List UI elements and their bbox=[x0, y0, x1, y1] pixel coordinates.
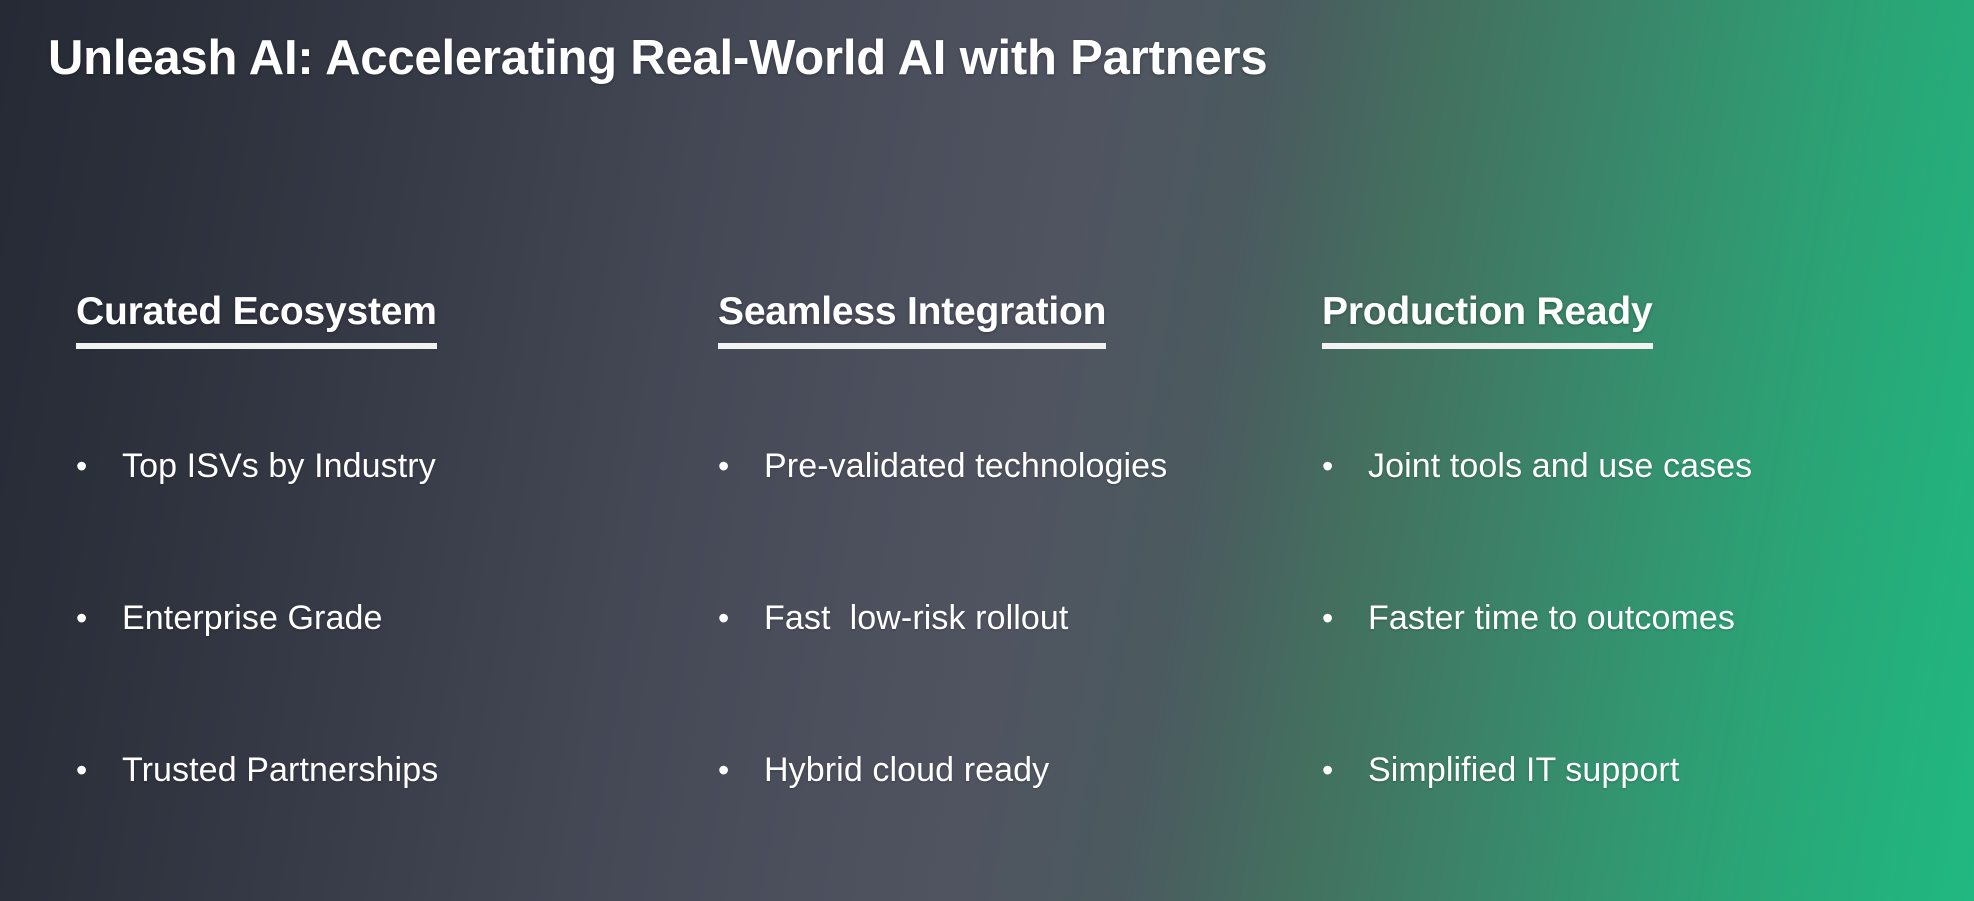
column-heading-1: Curated Ecosystem bbox=[76, 290, 437, 349]
presentation-slide: Unleash AI: Accelerating Real-World AI w… bbox=[0, 0, 1974, 901]
bullet-point-icon: • bbox=[76, 754, 122, 786]
bullet-list-2: • Pre-validated technologies • Fast low-… bbox=[718, 447, 1300, 901]
list-item: • Hybrid cloud ready bbox=[718, 751, 1300, 901]
bullet-label: Enterprise Grade bbox=[122, 599, 383, 638]
slide-title: Unleash AI: Accelerating Real-World AI w… bbox=[48, 30, 1267, 86]
column-heading-3: Production Ready bbox=[1322, 290, 1653, 349]
bullet-point-icon: • bbox=[718, 602, 764, 634]
bullet-label: Faster time to outcomes bbox=[1368, 599, 1735, 638]
bullet-label: Hybrid cloud ready bbox=[764, 751, 1049, 790]
bullet-point-icon: • bbox=[718, 450, 764, 482]
bullet-label: Pre-validated technologies bbox=[764, 447, 1167, 486]
bullet-point-icon: • bbox=[1322, 602, 1368, 634]
column-curated-ecosystem: Curated Ecosystem • Top ISVs by Industry… bbox=[0, 290, 650, 901]
bullet-label: Fast low-risk rollout bbox=[764, 599, 1068, 638]
bullet-point-icon: • bbox=[76, 602, 122, 634]
bullet-point-icon: • bbox=[718, 754, 764, 786]
list-item: • Fast low-risk rollout bbox=[718, 599, 1300, 751]
bullet-label: Simplified IT support bbox=[1368, 751, 1679, 790]
list-item: • Top ISVs by Industry bbox=[76, 447, 650, 599]
list-item: • Faster time to outcomes bbox=[1322, 599, 1974, 751]
list-item: • Joint tools and use cases bbox=[1322, 447, 1974, 599]
bullet-label: Trusted Partnerships bbox=[122, 751, 438, 790]
bullet-label: Top ISVs by Industry bbox=[122, 447, 436, 486]
list-item: • Trusted Partnerships bbox=[76, 751, 650, 901]
column-seamless-integration: Seamless Integration • Pre-validated tec… bbox=[650, 290, 1300, 901]
bullet-label: Joint tools and use cases bbox=[1368, 447, 1752, 486]
bullet-list-3: • Joint tools and use cases • Faster tim… bbox=[1322, 447, 1974, 901]
bullet-point-icon: • bbox=[1322, 450, 1368, 482]
bullet-point-icon: • bbox=[1322, 754, 1368, 786]
columns-container: Curated Ecosystem • Top ISVs by Industry… bbox=[0, 290, 1974, 901]
column-production-ready: Production Ready • Joint tools and use c… bbox=[1300, 290, 1974, 901]
list-item: • Simplified IT support bbox=[1322, 751, 1974, 901]
list-item: • Enterprise Grade bbox=[76, 599, 650, 751]
column-heading-2: Seamless Integration bbox=[718, 290, 1106, 349]
bullet-list-1: • Top ISVs by Industry • Enterprise Grad… bbox=[76, 447, 650, 901]
list-item: • Pre-validated technologies bbox=[718, 447, 1300, 599]
bullet-point-icon: • bbox=[76, 450, 122, 482]
